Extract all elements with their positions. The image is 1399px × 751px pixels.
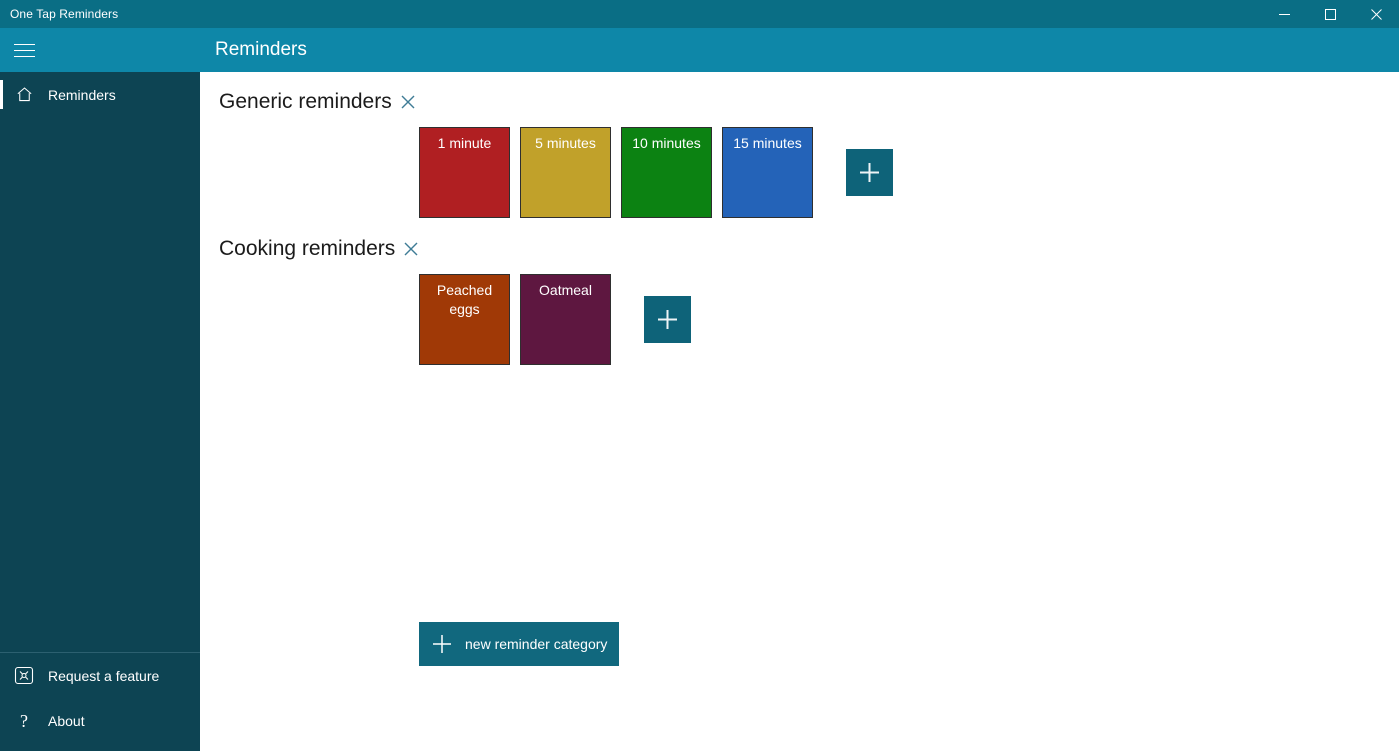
new-reminder-category-button[interactable]: new reminder category: [419, 622, 619, 666]
hamburger-bars: [14, 39, 35, 62]
plus-icon: [419, 633, 465, 655]
reminder-section: Generic reminders1 minute5 minutes10 min…: [200, 84, 1399, 218]
reminder-tile-label: 15 minutes: [727, 134, 808, 153]
reminder-tile-label: 5 minutes: [525, 134, 606, 153]
question-mark-icon: ?: [0, 711, 48, 731]
reminder-tile[interactable]: 10 minutes: [621, 127, 712, 218]
section-header: Cooking reminders: [200, 231, 1399, 267]
section-header: Generic reminders: [200, 84, 1399, 120]
reminder-tile-label: 1 minute: [424, 134, 505, 153]
reminder-tile[interactable]: 1 minute: [419, 127, 510, 218]
sidebar-bottom-group: Request a feature ? About: [0, 652, 200, 751]
sidebar-spacer: [0, 117, 200, 652]
minimize-button[interactable]: [1261, 0, 1307, 28]
sidebar-top-group: Reminders: [0, 72, 200, 117]
new-category-wrapper: new reminder category: [419, 622, 619, 666]
sidebar: Reminders Request a feature ?: [0, 72, 200, 751]
svg-text:?: ?: [20, 711, 28, 731]
sidebar-item-reminders[interactable]: Reminders: [0, 72, 200, 117]
title-bar: One Tap Reminders: [0, 0, 1399, 28]
home-icon: [0, 85, 48, 104]
window-controls: [1261, 0, 1399, 28]
tile-row: Peached eggsOatmeal: [200, 274, 1399, 365]
content-area: Generic reminders1 minute5 minutes10 min…: [200, 72, 1399, 751]
reminder-tile-label: Oatmeal: [525, 281, 606, 300]
sidebar-item-label: Request a feature: [48, 668, 159, 684]
tile-row: 1 minute5 minutes10 minutes15 minutes: [200, 127, 1399, 218]
sidebar-item-about[interactable]: ? About: [0, 698, 200, 743]
sidebar-item-label: Reminders: [48, 87, 116, 103]
sidebar-item-label: About: [48, 713, 85, 729]
reminder-section: Cooking remindersPeached eggsOatmeal: [200, 231, 1399, 365]
sidebar-item-request-a-feature[interactable]: Request a feature: [0, 653, 200, 698]
command-bar: Reminders: [0, 28, 1399, 72]
section-title: Generic reminders: [219, 90, 392, 114]
feedback-icon: [0, 666, 48, 685]
window-title: One Tap Reminders: [0, 0, 118, 28]
section-title: Cooking reminders: [219, 237, 395, 261]
reminder-tile-label: 10 minutes: [626, 134, 707, 153]
hamburger-menu-icon[interactable]: [0, 28, 48, 72]
new-reminder-category-label: new reminder category: [465, 636, 607, 652]
page-title: Reminders: [215, 28, 307, 72]
add-reminder-button[interactable]: [846, 149, 893, 196]
reminder-tile-label: Peached eggs: [424, 281, 505, 319]
reminder-tile[interactable]: Peached eggs: [419, 274, 510, 365]
close-icon[interactable]: [398, 92, 418, 112]
reminder-tile[interactable]: 15 minutes: [722, 127, 813, 218]
reminder-tile[interactable]: Oatmeal: [520, 274, 611, 365]
add-reminder-button[interactable]: [644, 296, 691, 343]
maximize-button[interactable]: [1307, 0, 1353, 28]
reminder-tile[interactable]: 5 minutes: [520, 127, 611, 218]
app-window: One Tap Reminders Reminders: [0, 0, 1399, 751]
close-button[interactable]: [1353, 0, 1399, 28]
close-icon[interactable]: [401, 239, 421, 259]
